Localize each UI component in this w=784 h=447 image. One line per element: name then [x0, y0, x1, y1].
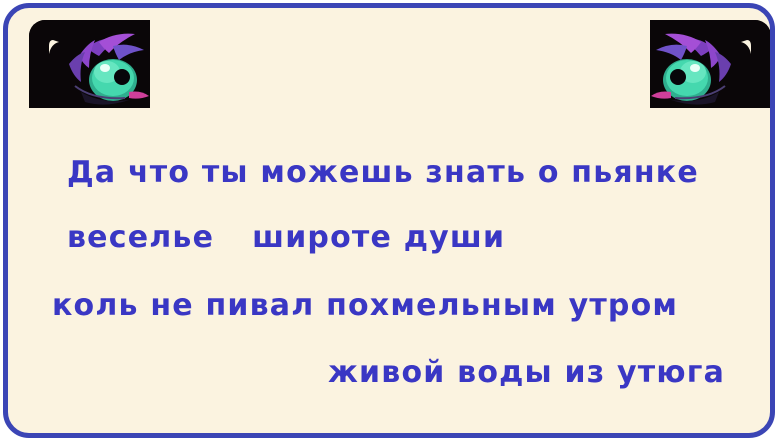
- creature-eye-left-icon: [29, 20, 150, 108]
- creature-eye-right-icon: [650, 20, 771, 108]
- poem-text-block: Да что ты можешь знать о пьянке весельеш…: [8, 136, 775, 426]
- poem-line-1: Да что ты можешь знать о пьянке: [8, 158, 775, 188]
- poem-line-2-part-a: веселье: [67, 220, 214, 255]
- creature-eye-left-thumbnail: [29, 20, 150, 108]
- poem-line-4: живой воды из утюга: [8, 358, 775, 388]
- meme-card: Да что ты можешь знать о пьянке весельеш…: [3, 3, 775, 438]
- poem-line-3: коль не пивал похмельным утром: [8, 291, 775, 321]
- poem-line-2: весельешироте души: [8, 223, 775, 253]
- meme-image: Да что ты можешь знать о пьянке весельеш…: [0, 0, 784, 447]
- creature-eye-right-thumbnail: [650, 20, 771, 108]
- poem-line-2-part-b: широте души: [252, 220, 505, 255]
